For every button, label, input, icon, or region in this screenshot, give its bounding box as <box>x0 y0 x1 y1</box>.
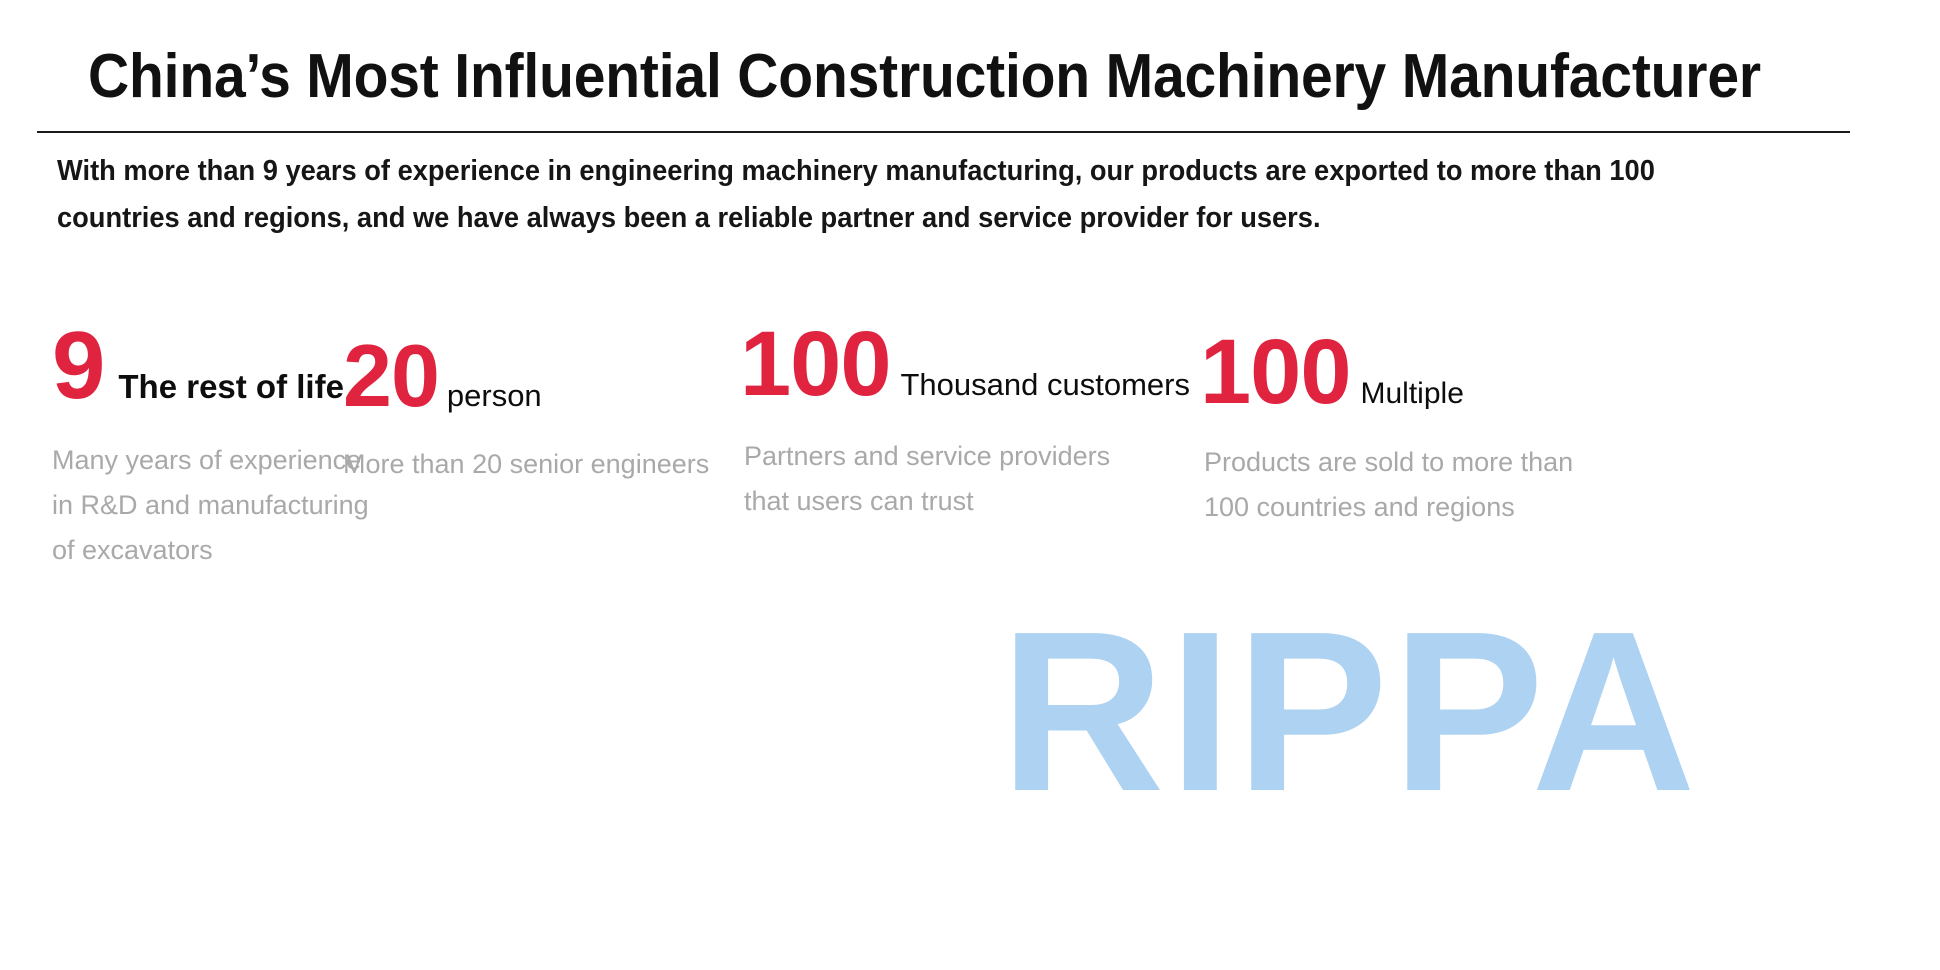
stat-number: 9 <box>52 312 104 419</box>
stat-label: Thousand customers <box>891 367 1190 402</box>
stat-number: 100 <box>1200 321 1351 423</box>
stat-block-customers: 100Thousand customers Partners and servi… <box>740 318 1190 524</box>
stats-row: 9The rest of life Many years of experien… <box>0 318 1940 578</box>
brand-watermark: RIPPA <box>1000 598 1940 826</box>
stat-headline: 100Thousand customers <box>740 318 1190 410</box>
stat-description: Products are sold to more than 100 count… <box>1200 440 1573 530</box>
stat-headline: 9The rest of life <box>52 318 369 414</box>
intro-paragraph: With more than 9 years of experience in … <box>57 148 1758 242</box>
stat-description: Many years of experience in R&D and manu… <box>52 438 369 573</box>
page-title: China’s Most Influential Construction Ma… <box>88 40 1726 114</box>
stat-number: 20 <box>343 326 439 425</box>
marketing-banner: China’s Most Influential Construction Ma… <box>0 0 1940 970</box>
stat-block-engineers: 20person More than 20 senior engineers <box>343 332 709 487</box>
stat-label: person <box>439 378 542 413</box>
stat-description: Partners and service providers that user… <box>740 434 1190 524</box>
stat-description: More than 20 senior engineers <box>343 442 709 487</box>
title-divider <box>37 131 1850 133</box>
stat-headline: 20person <box>343 332 709 420</box>
stat-label: Multiple <box>1351 377 1464 410</box>
stat-headline: 100Multiple <box>1200 326 1573 418</box>
stat-block-countries: 100Multiple Products are sold to more th… <box>1200 326 1573 530</box>
stat-label: The rest of life <box>104 368 344 405</box>
stat-number: 100 <box>740 313 891 415</box>
stat-block-years: 9The rest of life Many years of experien… <box>52 318 369 573</box>
